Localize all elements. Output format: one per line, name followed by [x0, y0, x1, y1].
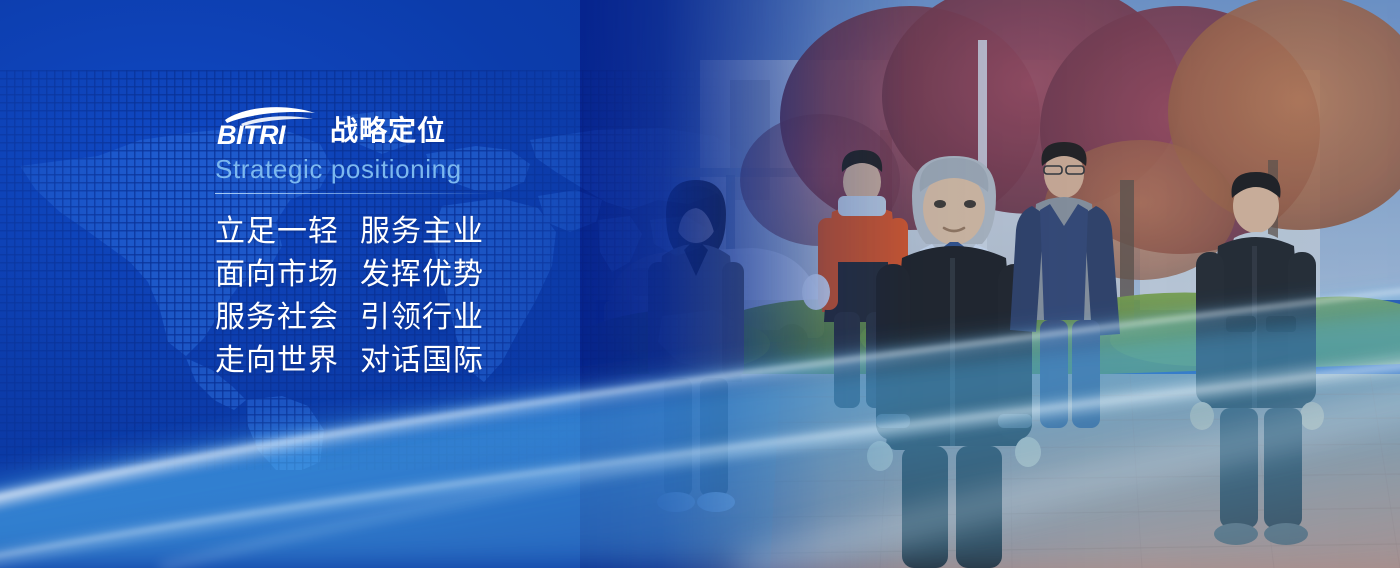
slogan-list: 立足一轻 服务主业 面向市场 发挥优势 服务社会 引领行业 走向世界 对话国际 — [215, 217, 645, 376]
slogan-right: 引领行业 — [360, 303, 484, 333]
slogan-row: 立足一轻 服务主业 — [215, 217, 645, 247]
slogan-left: 立足一轻 — [215, 217, 360, 247]
slogan-right: 发挥优势 — [360, 260, 484, 290]
slogan-left: 服务社会 — [215, 303, 360, 333]
slogan-right: 对话国际 — [360, 346, 484, 376]
brand-lockup: BITRI 战略定位 — [215, 104, 645, 148]
slogan-row: 服务社会 引领行业 — [215, 303, 645, 333]
photo-blue-tint — [580, 0, 1400, 568]
slogan-row: 面向市场 发挥优势 — [215, 260, 645, 290]
title-divider — [215, 193, 487, 194]
banner-text-block: BITRI 战略定位 Strategic positioning 立足一轻 服务… — [215, 104, 645, 376]
brand-title-en: Strategic positioning — [215, 155, 645, 184]
slogan-left: 走向世界 — [215, 346, 360, 376]
slogan-left: 面向市场 — [215, 260, 360, 290]
strategic-positioning-banner: BITRI 战略定位 Strategic positioning 立足一轻 服务… — [0, 0, 1400, 568]
bitri-logo-icon: BITRI — [215, 104, 319, 148]
svg-text:BITRI: BITRI — [217, 120, 286, 148]
slogan-row: 走向世界 对话国际 — [215, 346, 645, 376]
brand-title-cn: 战略定位 — [330, 117, 446, 148]
slogan-right: 服务主业 — [360, 217, 484, 247]
